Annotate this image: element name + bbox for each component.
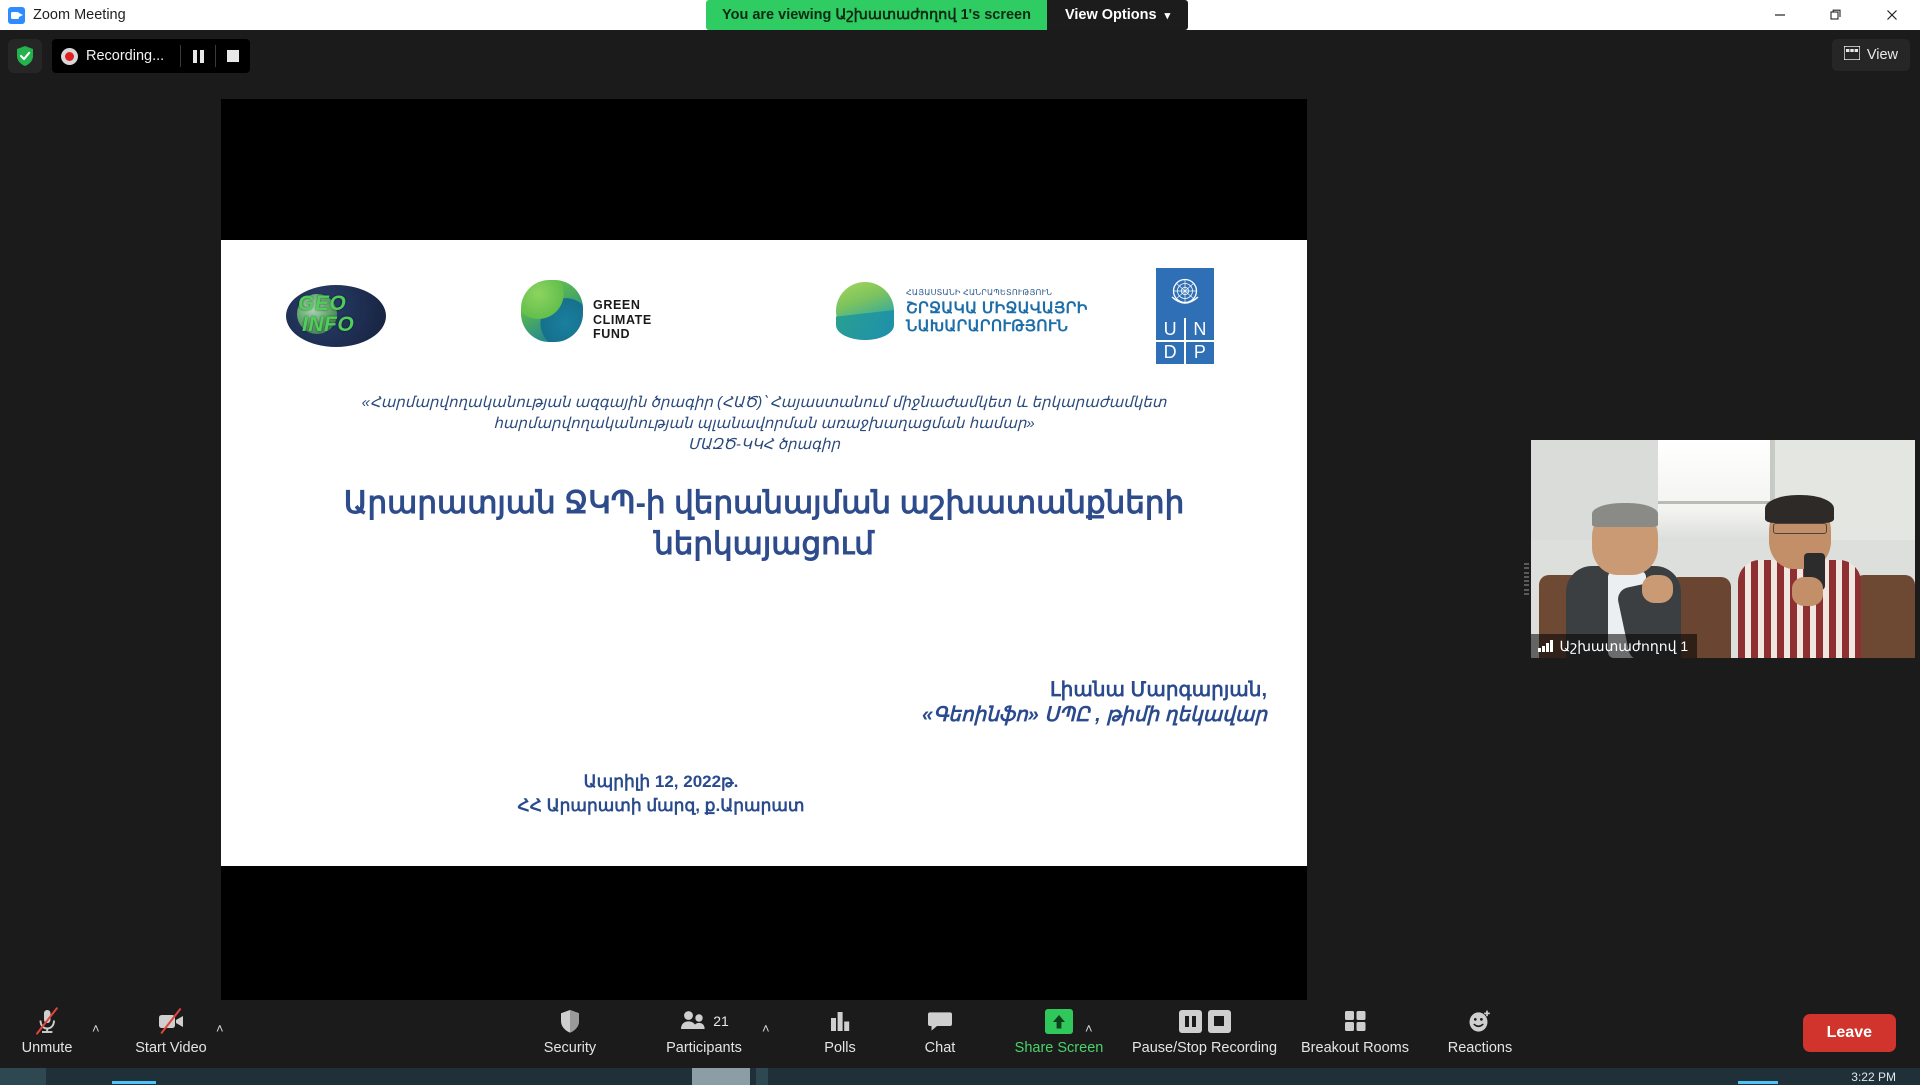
presenter-name: Լիանա Մարգարյան,	[221, 678, 1267, 703]
taskbar-item[interactable]	[756, 1068, 768, 1085]
slide-date-block: Ապրիլի 12, 2022թ. ՀՀ Արարատի մարզ, ք.Արա…	[221, 770, 1101, 818]
moe-circle-icon	[836, 282, 894, 340]
breakout-rooms-label: Breakout Rooms	[1301, 1040, 1409, 1056]
recording-indicator-bar: Recording...	[52, 39, 250, 73]
share-screen-up-arrow-icon	[1045, 1006, 1073, 1036]
undp-letter-n: N	[1186, 318, 1214, 340]
restore-button[interactable]	[1808, 0, 1864, 30]
video-camera-off-icon	[152, 1006, 190, 1036]
slide-title-line2: ներկայացում	[281, 523, 1247, 564]
participant-name: Աշխատաժողով 1	[1560, 638, 1689, 655]
moe-line1: ՇՐՋԱԿԱ ՄԻՋԱՎԱՅՐԻ	[906, 300, 1088, 318]
microphone-muted-icon	[30, 1006, 64, 1036]
gcf-line1: GREEN	[593, 298, 652, 313]
share-screen-button[interactable]: Share Screen	[1000, 1006, 1118, 1064]
leave-button[interactable]: Leave	[1803, 1014, 1896, 1052]
chat-label: Chat	[925, 1040, 956, 1056]
ministry-environment-armenia-logo: ՀԱՅԱՍՏԱՆԻ ՀԱՆՐԱՊԵՏՈՒԹՅՈՒՆ ՇՐՋԱԿԱ ՄԻՋԱՎԱՅ…	[836, 276, 1126, 356]
taskbar-item-indicator	[1738, 1081, 1778, 1084]
presenter-block: Լիանա Մարգարյան, «Գեոինֆո» ՍՊԸ , թիմի ղե…	[221, 678, 1267, 728]
meeting-window: Recording... View	[0, 30, 1920, 1030]
project-description-line1: «Հարմարվողականության ազգային ծրագիր (ՀԱԾ…	[221, 392, 1307, 413]
recording-label: Recording...	[86, 48, 180, 64]
taskbar-item[interactable]	[0, 1068, 46, 1085]
presentation-slide: GEO INFO GREEN CLIMATE FUND ՀԱՅ	[221, 240, 1307, 866]
security-label: Security	[544, 1040, 596, 1056]
polls-button[interactable]: Polls	[800, 1006, 880, 1064]
minimize-button[interactable]	[1752, 0, 1808, 30]
undp-logo: U N D P	[1156, 268, 1214, 364]
green-climate-fund-logo: GREEN CLIMATE FUND	[521, 278, 721, 364]
pause-stop-recording-button[interactable]: Pause/Stop Recording	[1112, 1006, 1297, 1064]
share-screen-label: Share Screen	[1015, 1040, 1104, 1056]
shield-icon	[559, 1006, 581, 1036]
chat-bubble-icon	[927, 1006, 953, 1036]
stop-recording-icon[interactable]	[216, 39, 250, 73]
audio-options-chevron-icon[interactable]: ˄	[92, 1021, 100, 1036]
pause-stop-recording-label: Pause/Stop Recording	[1132, 1040, 1277, 1056]
record-dot-icon	[52, 39, 86, 73]
start-video-label: Start Video	[135, 1040, 206, 1056]
view-layout-button[interactable]: View	[1832, 39, 1910, 71]
windows-taskbar: 3:22 PM	[0, 1068, 1920, 1085]
pause-stop-icon	[1179, 1006, 1231, 1036]
participant-video-tile[interactable]: Աշխատաժողով 1	[1531, 440, 1915, 658]
participant-name-badge: Աշխատաժողով 1	[1531, 634, 1697, 658]
system-clock[interactable]: 3:22 PM	[1851, 1070, 1896, 1084]
video-scene	[1531, 440, 1915, 658]
window-title: Zoom Meeting	[33, 7, 126, 23]
view-options-label: View Options	[1065, 7, 1157, 23]
moe-small-line: ՀԱՅԱՍՏԱՆԻ ՀԱՆՐԱՊԵՏՈՒԹՅՈՒՆ	[906, 288, 1052, 297]
people-icon: 21	[679, 1006, 729, 1036]
slide-title-line1: Արարատյան ՋԿՊ-ի վերանայման աշխատանքների	[281, 482, 1247, 523]
grid-squares-icon	[1343, 1006, 1368, 1036]
participants-count: 21	[713, 1013, 729, 1029]
taskbar-item-active[interactable]	[692, 1068, 750, 1085]
viewing-screen-label: You are viewing Աշխատաժողով 1's screen	[706, 0, 1047, 30]
reactions-button[interactable]: Reactions	[1425, 1006, 1535, 1064]
share-options-chevron-icon[interactable]: ˄	[1085, 1021, 1093, 1036]
participants-chevron-icon[interactable]: ˄	[762, 1021, 770, 1036]
top-controls-row: Recording... View	[0, 36, 1920, 76]
undp-letter-p: P	[1186, 342, 1214, 364]
close-button[interactable]	[1864, 0, 1920, 30]
meeting-toolbar: Unmute ˄ Start Video ˄ Security	[0, 1000, 1920, 1068]
smiley-plus-icon	[1467, 1006, 1493, 1036]
screen-share-banner: You are viewing Աշխատաժողով 1's screen V…	[706, 0, 1188, 30]
gcf-line2: CLIMATE	[593, 313, 652, 328]
signal-bars-icon	[1538, 640, 1553, 652]
polls-label: Polls	[824, 1040, 855, 1056]
video-options-chevron-icon[interactable]: ˄	[216, 1021, 224, 1036]
presenter-role: «Գեոինֆո» ՍՊԸ , թիմի ղեկավար	[221, 703, 1267, 728]
geoinfo-logo: GEO INFO	[286, 285, 386, 347]
project-description-line3: ՄԱԶԾ-ԿԿՀ ծրագիր	[221, 434, 1307, 455]
unmute-button[interactable]: Unmute	[16, 1006, 78, 1064]
view-options-button[interactable]: View Options ▾	[1047, 0, 1188, 30]
geoinfo-line2: INFO	[298, 314, 378, 335]
unmute-label: Unmute	[22, 1040, 73, 1056]
taskbar-item-indicator	[112, 1081, 156, 1084]
start-video-button[interactable]: Start Video	[116, 1006, 226, 1064]
layout-view-icon	[1844, 46, 1860, 64]
slide-location: ՀՀ Արարատի մարզ, ք.Արարատ	[221, 794, 1101, 818]
drag-handle-icon[interactable]	[1524, 563, 1529, 595]
un-emblem-icon	[1156, 268, 1214, 318]
security-button[interactable]: Security	[530, 1006, 610, 1064]
undp-letter-d: D	[1156, 342, 1184, 364]
slide-logo-row: GEO INFO GREEN CLIMATE FUND ՀԱՅ	[221, 268, 1307, 378]
breakout-rooms-button[interactable]: Breakout Rooms	[1280, 1006, 1430, 1064]
window-controls	[1752, 0, 1920, 30]
project-description-line2: հարմարվողականության պլանավորման առաջխաղա…	[221, 413, 1307, 434]
shared-screen-stage[interactable]: GEO INFO GREEN CLIMATE FUND ՀԱՅ	[221, 99, 1307, 1001]
bar-chart-icon	[828, 1006, 852, 1036]
security-shield-icon[interactable]	[8, 39, 42, 73]
geoinfo-line1: GEO	[298, 293, 378, 314]
reactions-label: Reactions	[1448, 1040, 1512, 1056]
gcf-line3: FUND	[593, 327, 652, 342]
project-description: «Հարմարվողականության ազգային ծրագիր (ՀԱԾ…	[221, 392, 1307, 455]
slide-date: Ապրիլի 12, 2022թ.	[221, 770, 1101, 794]
slide-title: Արարատյան ՋԿՊ-ի վերանայման աշխատանքների …	[281, 482, 1247, 564]
app-identity: Zoom Meeting	[0, 0, 126, 30]
view-label: View	[1867, 47, 1898, 63]
participants-label: Participants	[666, 1040, 742, 1056]
zoom-logo-icon	[8, 7, 25, 24]
undp-letter-u: U	[1156, 318, 1184, 340]
moe-line2: ՆԱԽԱՐԱՐՈՒԹՅՈՒՆ	[906, 318, 1088, 336]
participants-button[interactable]: 21 Participants	[645, 1006, 763, 1064]
gcf-globe-icon	[521, 280, 583, 342]
chat-button[interactable]: Chat	[900, 1006, 980, 1064]
window-title-bar: Zoom Meeting You are viewing Աշխատաժողով…	[0, 0, 1920, 30]
chevron-down-icon: ▾	[1165, 9, 1171, 22]
pause-recording-icon[interactable]	[181, 39, 215, 73]
